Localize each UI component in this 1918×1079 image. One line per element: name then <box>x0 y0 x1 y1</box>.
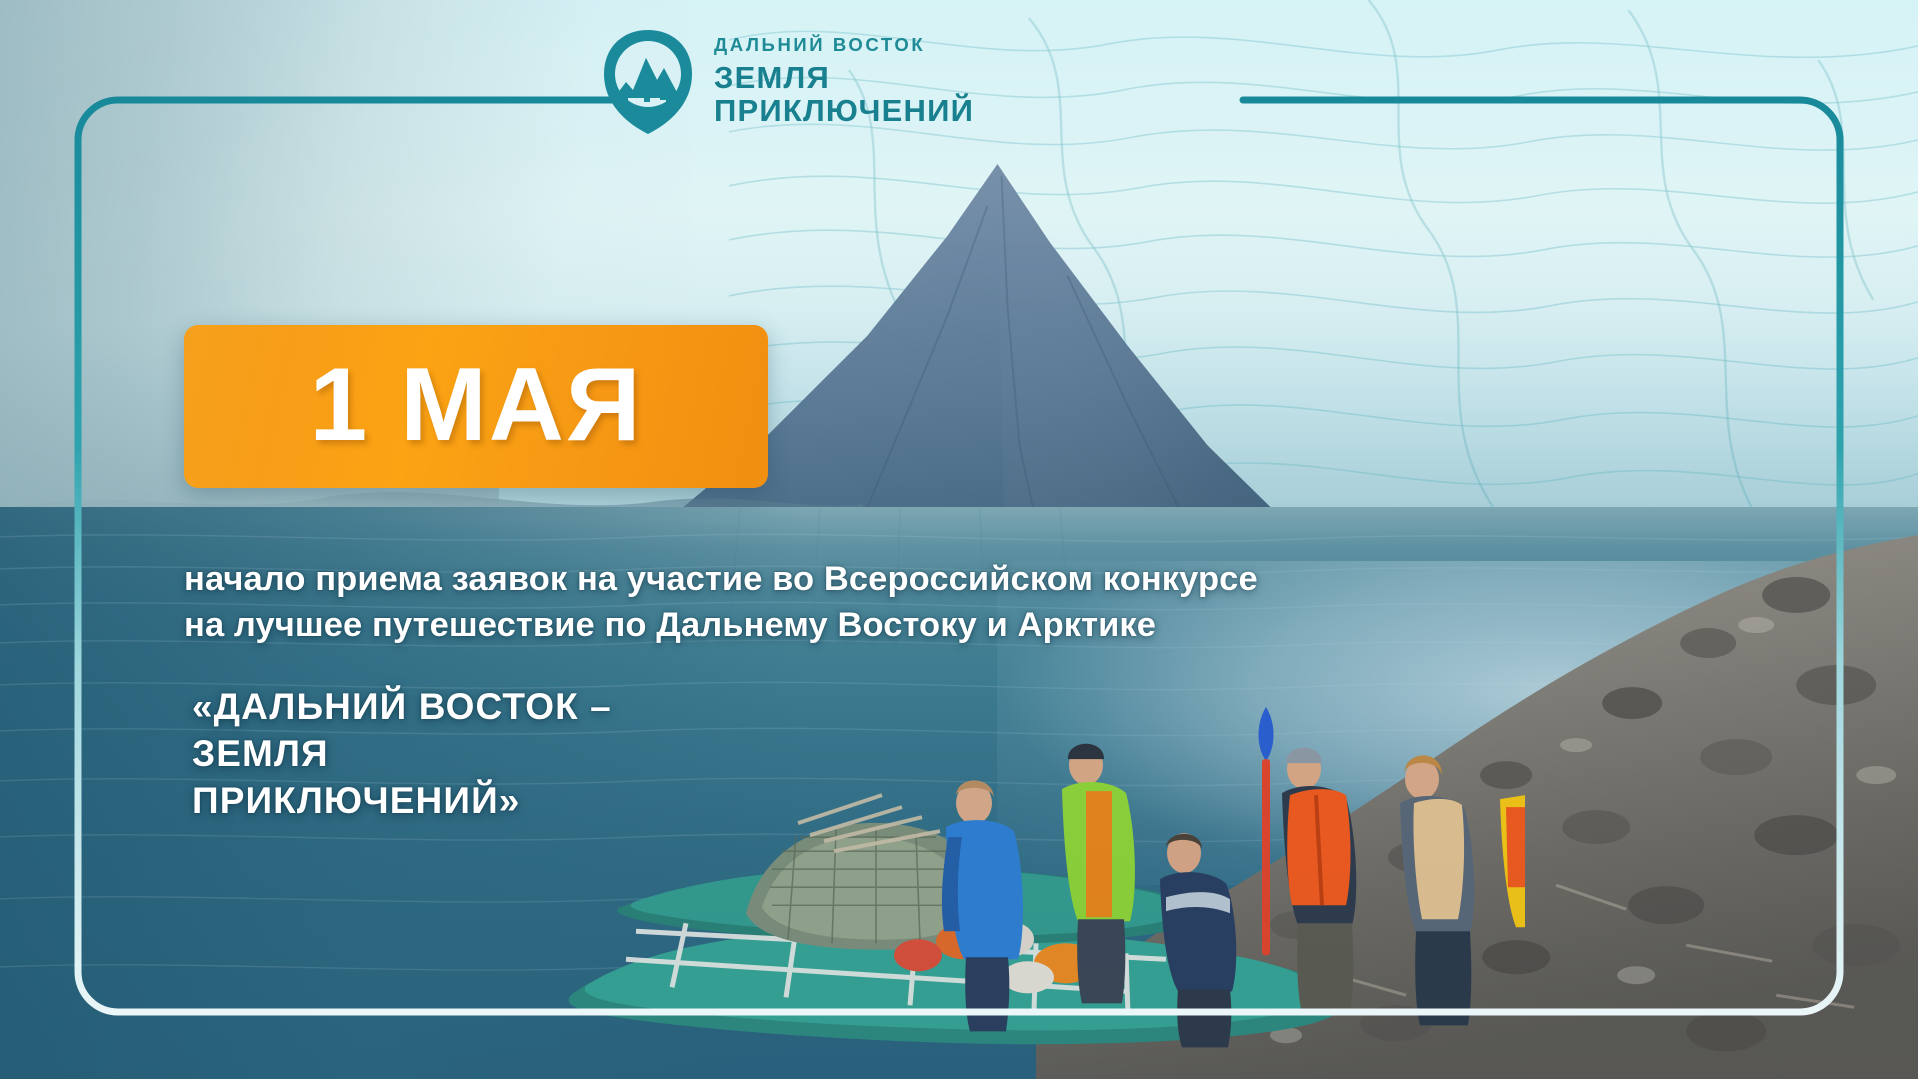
contest-title: «ДАЛЬНИЙ ВОСТОК – ЗЕМЛЯ ПРИКЛЮЧЕНИЙ» <box>192 684 612 825</box>
lead-line-2: на лучшее путешествие по Дальнему Восток… <box>184 602 1484 648</box>
lead-paragraph: начало приема заявок на участие во Всеро… <box>184 556 1484 648</box>
contest-title-line-1: «ДАЛЬНИЙ ВОСТОК – <box>192 684 612 731</box>
lead-line-1: начало приема заявок на участие во Всеро… <box>184 556 1484 602</box>
mountain-in-circle-shield-icon <box>600 28 696 136</box>
contest-title-line-3: ПРИКЛЮЧЕНИЙ» <box>192 778 612 825</box>
logo-kicker: ДАЛЬНИЙ ВОСТОК <box>714 36 974 55</box>
poster: ДАЛЬНИЙ ВОСТОК ЗЕМЛЯ ПРИКЛЮЧЕНИЙ 1 МАЯ н… <box>0 0 1918 1079</box>
photo-tint-overlay <box>0 0 1918 1079</box>
logo-title-line2: ПРИКЛЮЧЕНИЙ <box>714 94 974 127</box>
background-photo <box>0 0 1918 1079</box>
contest-title-line-2: ЗЕМЛЯ <box>192 731 612 778</box>
date-badge-label: 1 МАЯ <box>309 353 642 457</box>
logo-wordmark: ДАЛЬНИЙ ВОСТОК ЗЕМЛЯ ПРИКЛЮЧЕНИЙ <box>714 36 974 127</box>
date-badge: 1 МАЯ <box>184 325 768 488</box>
logo-title-line1: ЗЕМЛЯ <box>714 61 974 94</box>
brand-logo[interactable]: ДАЛЬНИЙ ВОСТОК ЗЕМЛЯ ПРИКЛЮЧЕНИЙ <box>600 28 974 136</box>
